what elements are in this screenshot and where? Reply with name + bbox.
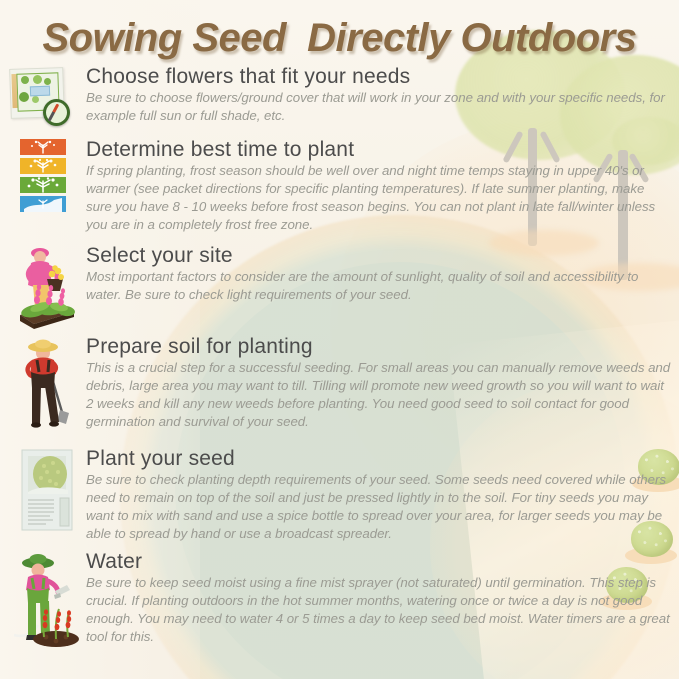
step-item: Select your site Most important factors … xyxy=(8,245,673,304)
step-title: Choose flowers that fit your needs xyxy=(86,66,673,88)
step-description: Be sure to check planting depth requirem… xyxy=(86,471,673,543)
autumn-tree-icon xyxy=(20,177,66,193)
step-title: Plant your seed xyxy=(86,448,673,470)
gardener-with-flower-tray-icon xyxy=(14,245,78,336)
four-seasons-icon xyxy=(20,139,66,213)
step-item: Plant your seed Be sure to check plantin… xyxy=(8,448,673,543)
winter-tree-icon xyxy=(20,196,66,212)
seed-packet-icon xyxy=(20,448,76,539)
gardener-with-shovel-icon xyxy=(18,336,78,433)
step-description: Be sure to choose flowers/ground cover t… xyxy=(86,89,673,125)
summer-tree-icon xyxy=(20,158,66,174)
step-description: Most important factors to consider are t… xyxy=(86,268,673,304)
step-item: Choose flowers that fit your needs Be su… xyxy=(8,66,673,125)
infographic-poster: Sowing Seed Directly Outdoors Choose flo… xyxy=(0,0,679,679)
step-description: Be sure to keep seed moist using a fine … xyxy=(86,574,673,646)
spring-tree-icon xyxy=(20,139,66,155)
garden-plan-compass-icon xyxy=(8,66,70,126)
step-item: Determine best time to plant If spring p… xyxy=(8,139,673,234)
step-title: Prepare soil for planting xyxy=(86,336,673,358)
step-title: Select your site xyxy=(86,245,673,267)
gardener-watering-icon xyxy=(14,551,84,652)
step-description: This is a crucial step for a successful … xyxy=(86,359,673,431)
step-item: Water Be sure to keep seed moist using a… xyxy=(8,551,673,646)
step-item: Prepare soil for planting This is a cruc… xyxy=(8,336,673,431)
page-title: Sowing Seed Directly Outdoors xyxy=(0,16,679,61)
step-description: If spring planting, frost season should … xyxy=(86,162,673,234)
step-title: Water xyxy=(86,551,673,573)
step-title: Determine best time to plant xyxy=(86,139,673,161)
